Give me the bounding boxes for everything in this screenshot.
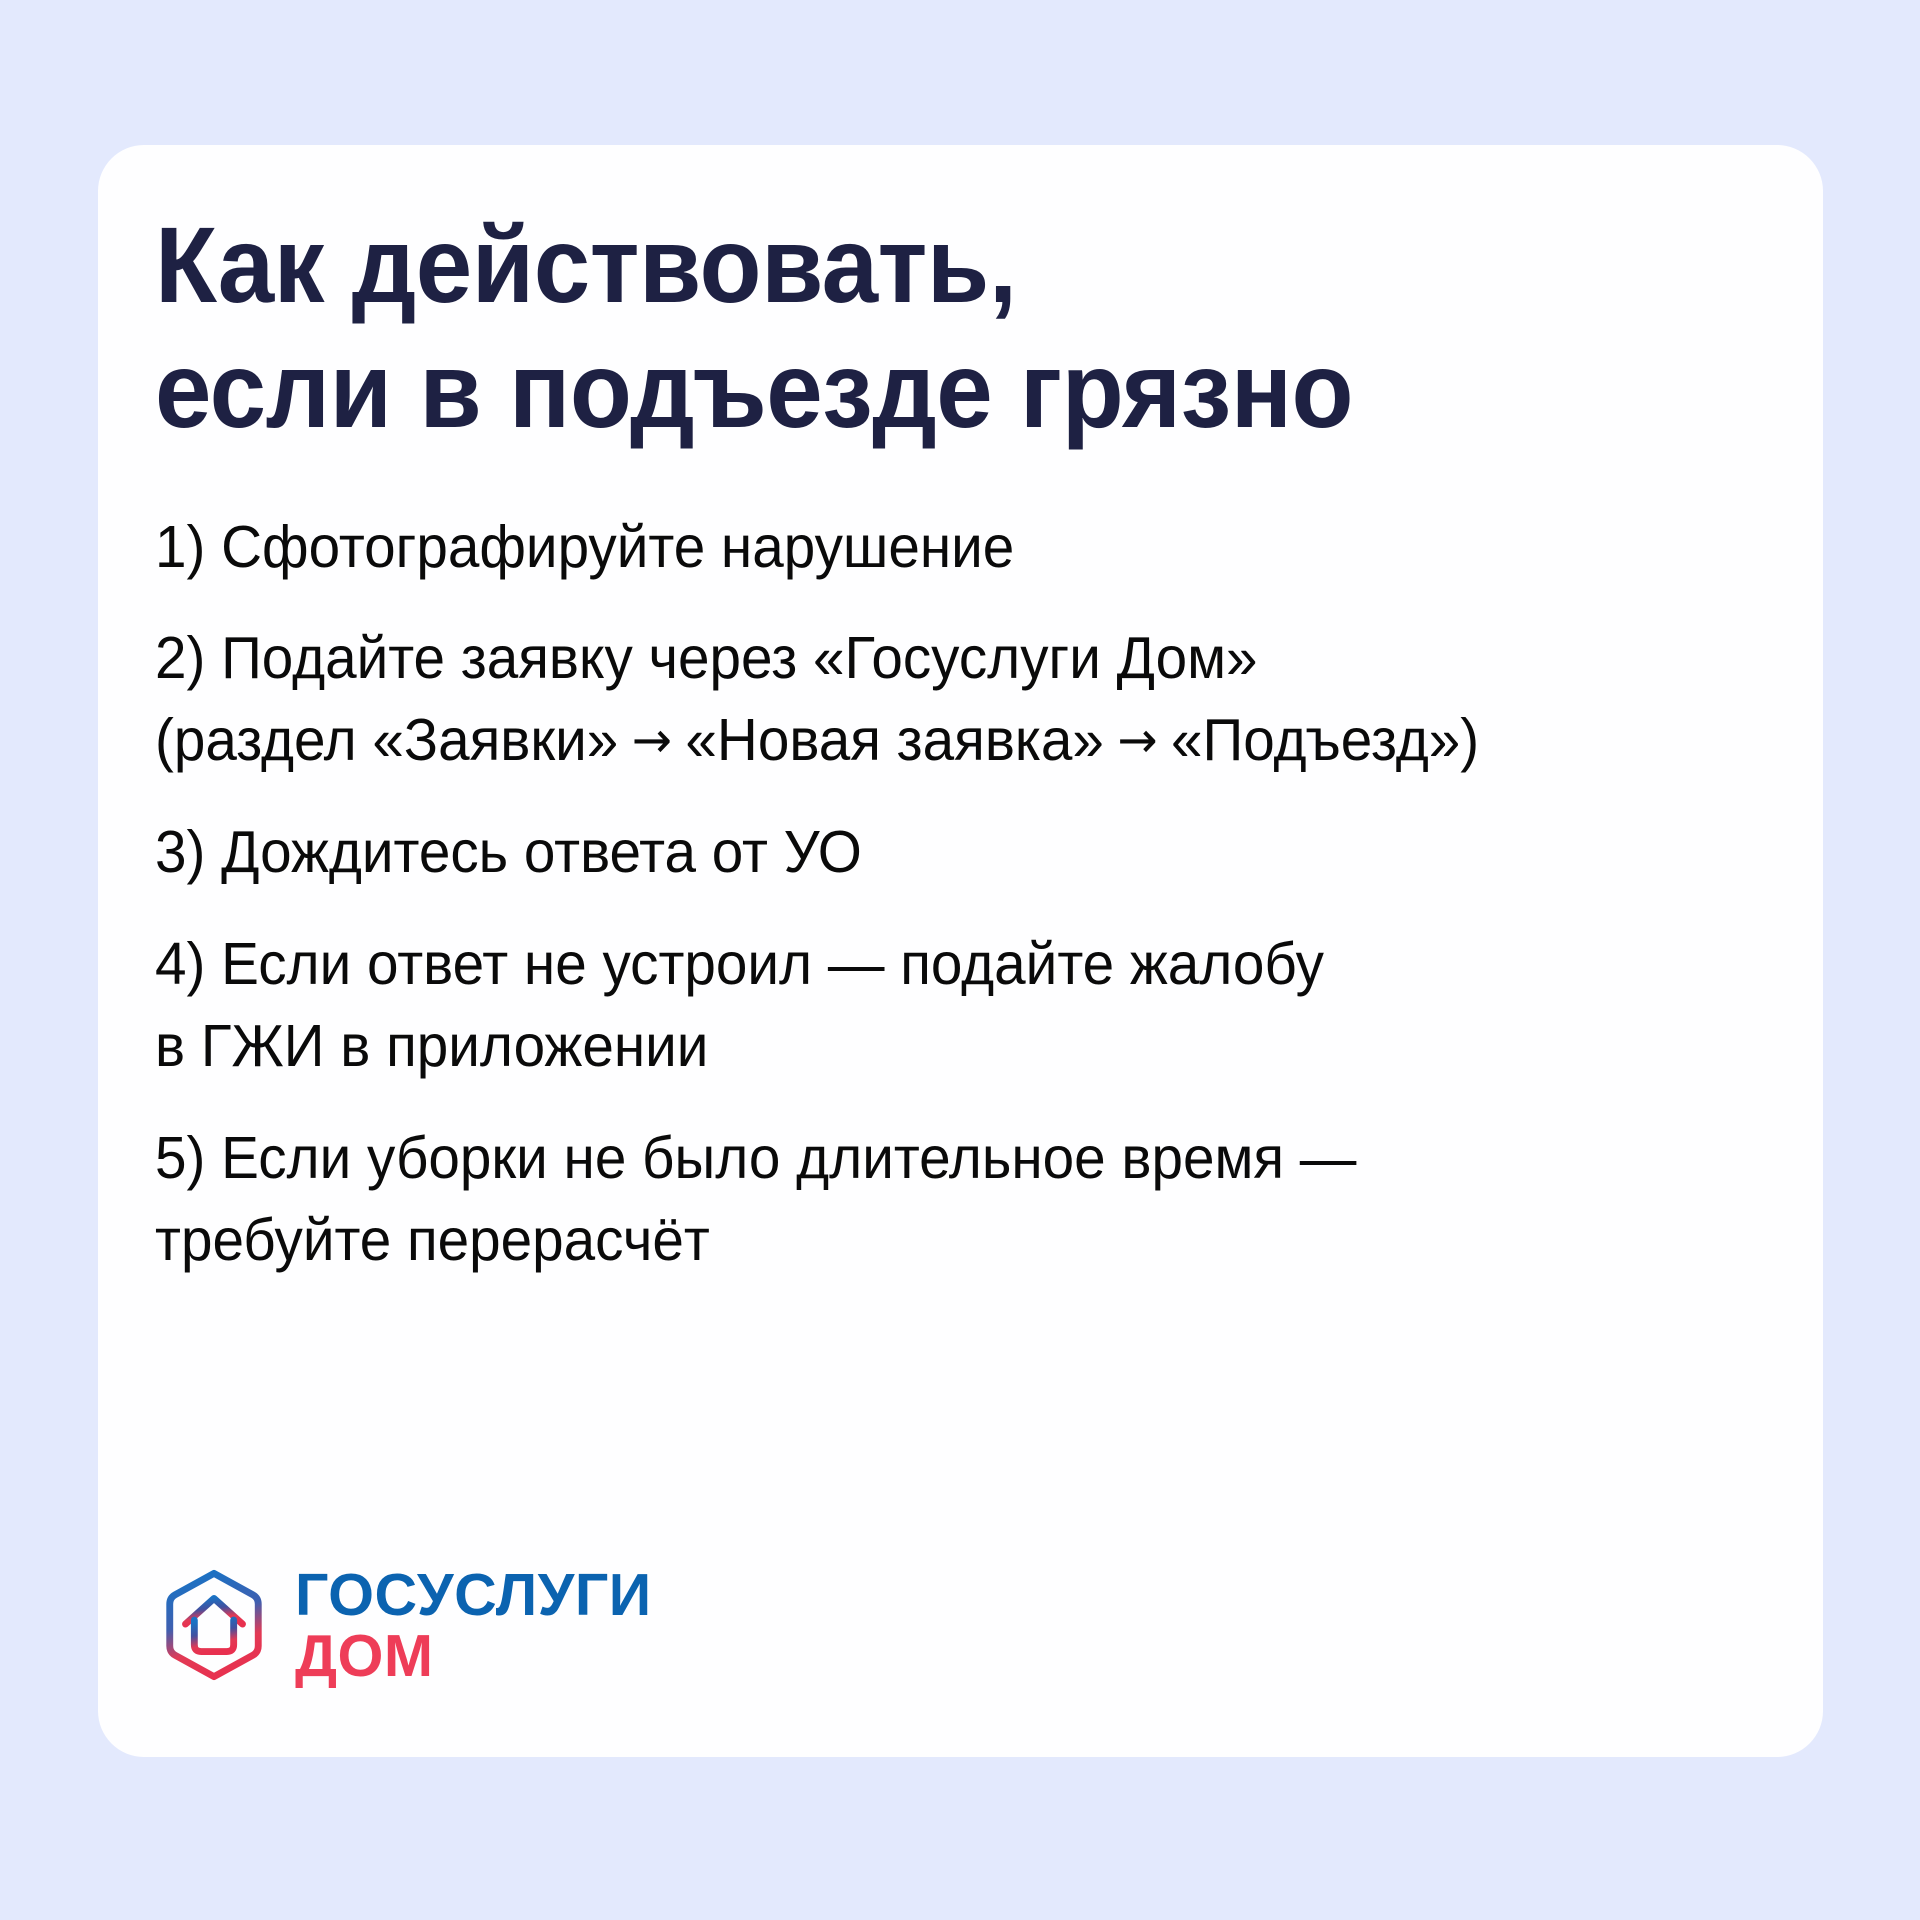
gosuslugi-dom-logo: ГОСУСЛУГИ ДОМ [155,1565,652,1684]
step-5-line-1: 5) Если уборки не было длительное время … [155,1126,1718,1191]
step-item-5: 5) Если уборки не было длительное время … [155,1126,1718,1273]
step-item-4: 4) Если ответ не устроил — подайте жалоб… [155,932,1718,1079]
step-5-line-2: требуйте перерасчёт [155,1208,1718,1273]
step-2-line-1: 2) Подайте заявку через «Госуслуги Дом» [155,626,1718,691]
step-4-line-1: 4) Если ответ не устроил — подайте жалоб… [155,932,1718,997]
arrow-icon-1: → [618,713,685,768]
step-2-segment-3: «Подъезд») [1171,707,1479,773]
arrow-icon-2: → [1104,713,1171,768]
logo-wordmark: ГОСУСЛУГИ ДОМ [295,1565,652,1684]
step-item-2: 2) Подайте заявку через «Госуслуги Дом» … [155,626,1718,773]
step-4-line-2: в ГЖИ в приложении [155,1014,1718,1079]
page-title: Как действовать, если в подъезде грязно [155,190,1685,453]
step-2-segment-1: (раздел «Заявки» [155,707,618,773]
logo-word-dom: ДОМ [295,1628,652,1685]
step-item-3: 3) Дождитесь ответа от УО [155,820,1718,885]
step-3-line-1: 3) Дождитесь ответа от УО [155,820,1718,885]
step-item-1: 1) Сфотографируйте нарушение [155,515,1718,580]
step-2-line-2: (раздел «Заявки»→«Новая заявка»→«Подъезд… [155,708,1718,773]
logo-word-gosuslugi: ГОСУСЛУГИ [295,1567,652,1624]
poster: Как действовать, если в подъезде грязно … [0,0,1920,1920]
info-card: Как действовать, если в подъезде грязно … [98,145,1823,1757]
step-1-line-1: 1) Сфотографируйте нарушение [155,515,1718,580]
steps-list: 1) Сфотографируйте нарушение 2) Подайте … [155,515,1783,1273]
house-hexagon-icon [155,1566,273,1684]
card-content: Как действовать, если в подъезде грязно … [155,190,1783,1727]
page-title-line-1: Как действовать, [155,202,1685,327]
page-title-line-2: если в подъезде грязно [155,327,1685,452]
step-2-segment-2: «Новая заявка» [685,707,1104,773]
